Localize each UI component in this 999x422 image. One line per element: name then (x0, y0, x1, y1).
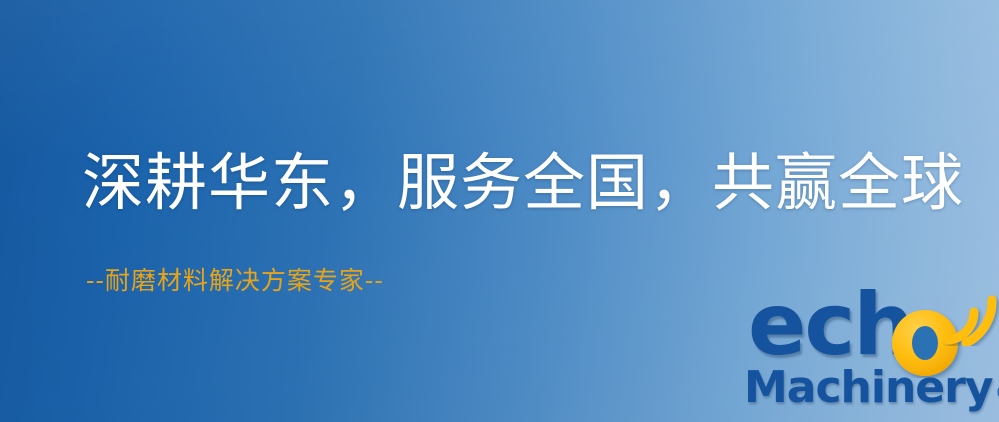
signal-wave-icon (940, 290, 999, 346)
hero-banner: 深耕华东，服务全国，共赢全球 --耐磨材料解决方案专家-- ech (0, 0, 999, 422)
banner-subtitle: --耐磨材料解决方案专家-- (86, 268, 384, 293)
registered-trademark-icon: ® (995, 383, 999, 405)
company-logo[interactable]: ech (744, 288, 996, 420)
logo-wordmark-prefix: ech (748, 282, 913, 368)
banner-headline: 深耕华东，服务全国，共赢全球 (82, 152, 964, 214)
logo-brand-line: Machinery (744, 366, 993, 410)
logo-brand-line-row: Machinery ® (744, 366, 999, 410)
